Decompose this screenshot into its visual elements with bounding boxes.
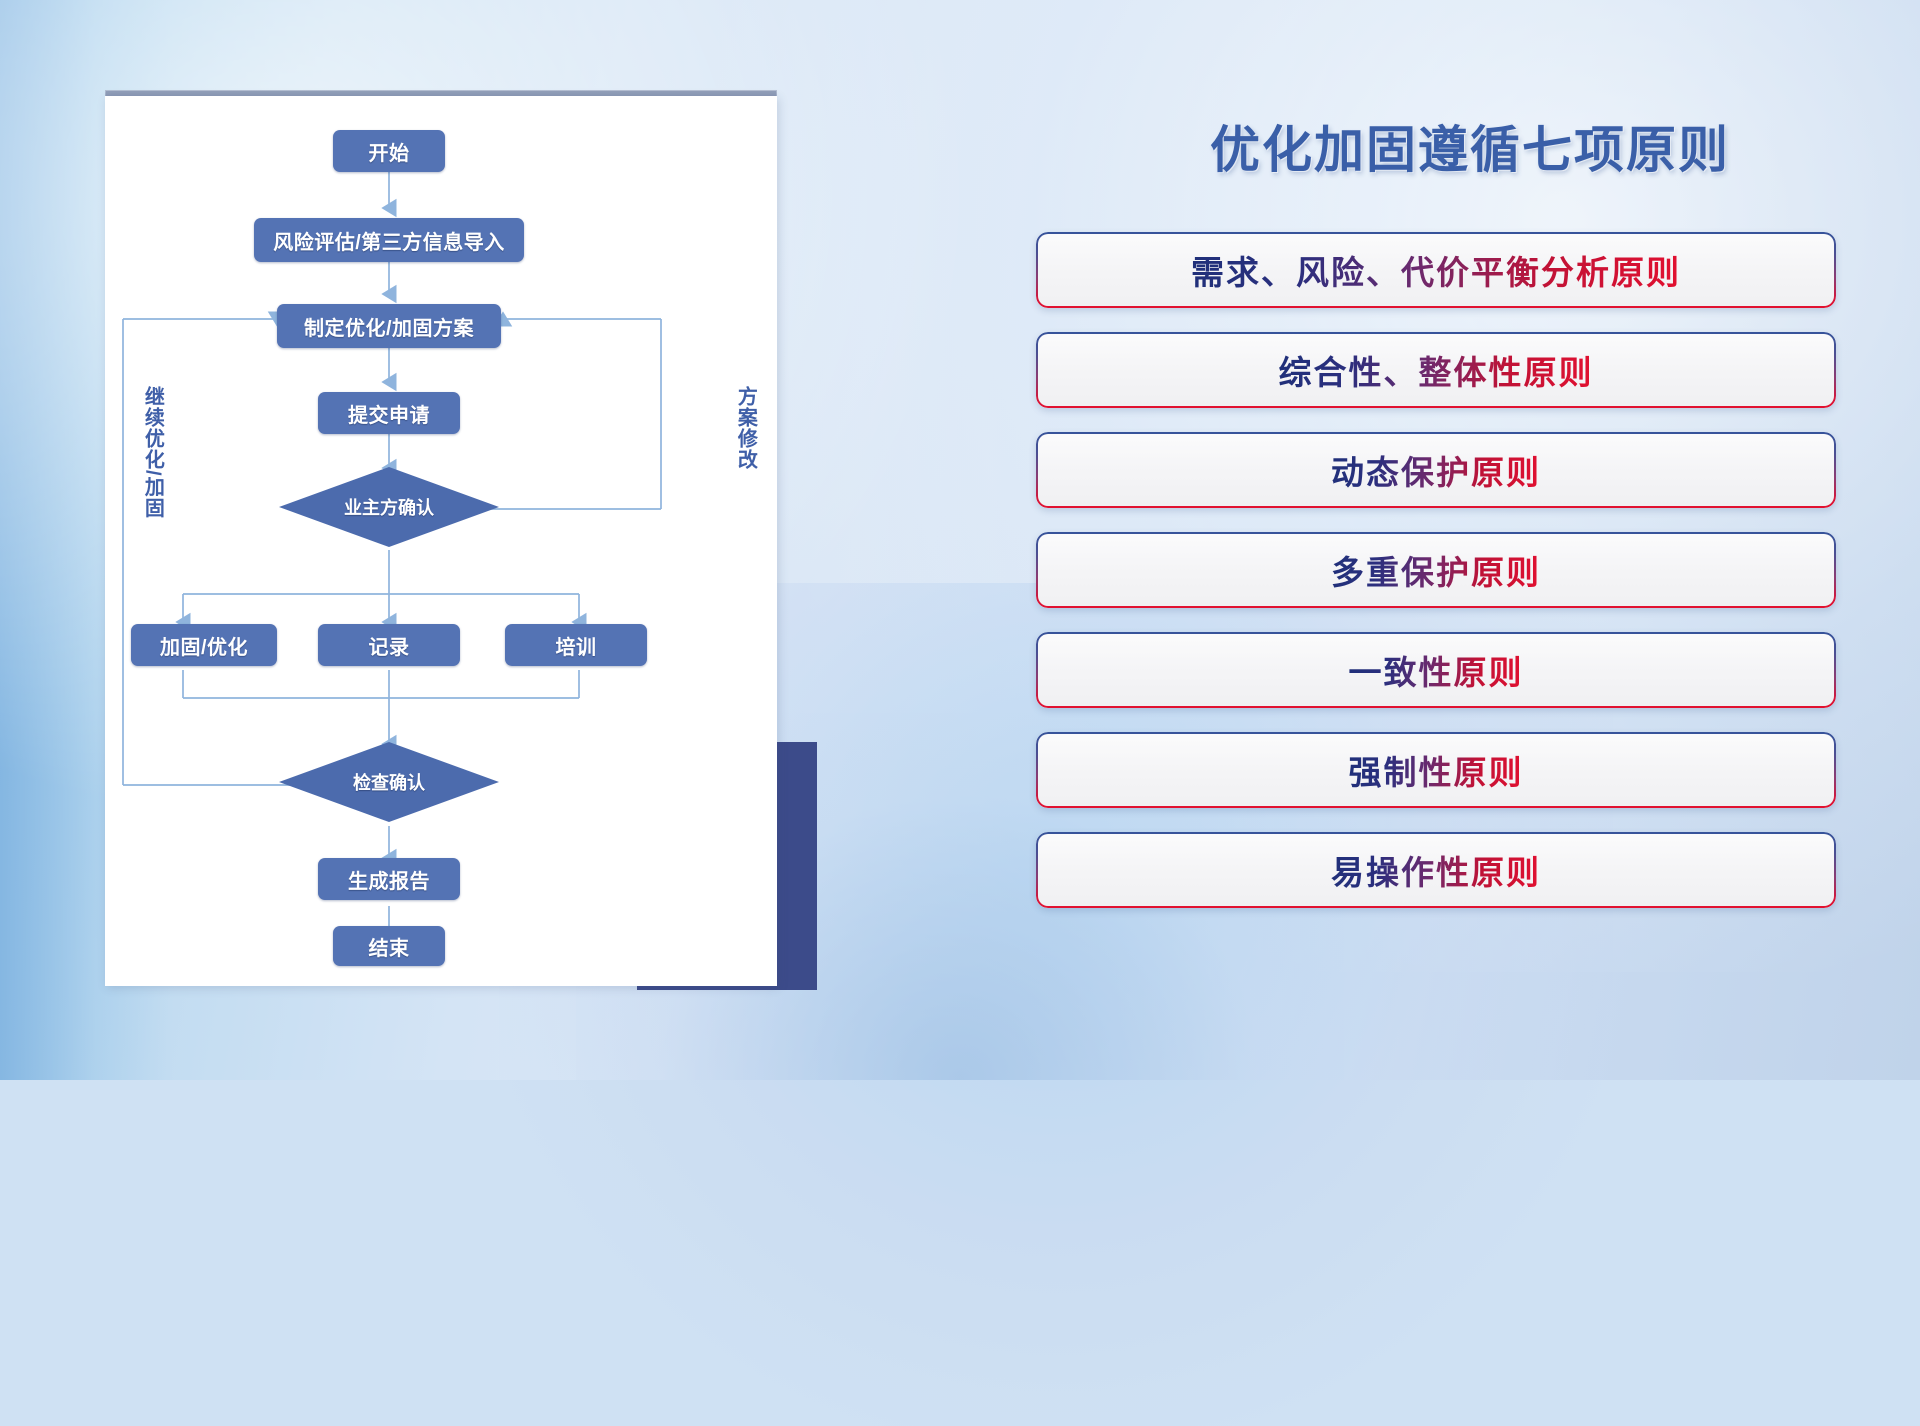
flow-node-record[interactable]: 记录	[318, 624, 460, 666]
principle-card-1[interactable]: 需求、风险、代价平衡分析原则	[1036, 232, 1836, 308]
principle-card-list: 需求、风险、代价平衡分析原则 综合性、整体性原则 动态保护原则 多重保护原则 一…	[1036, 232, 1836, 932]
flow-node-end[interactable]: 结束	[333, 926, 445, 966]
principle-card-6[interactable]: 强制性原则	[1036, 732, 1836, 808]
flow-node-risk-assessment[interactable]: 风险评估/第三方信息导入	[254, 218, 524, 262]
flow-node-generate-report[interactable]: 生成报告	[318, 858, 460, 900]
principle-card-4[interactable]: 多重保护原则	[1036, 532, 1836, 608]
principle-card-3[interactable]: 动态保护原则	[1036, 432, 1836, 508]
flow-edge-label-continue-optimize: 继续优化/加固	[142, 386, 162, 519]
page-title: 优化加固遵循七项原则	[1020, 110, 1920, 182]
principle-card-label: 综合性、整体性原则	[1279, 346, 1594, 394]
principle-card-5[interactable]: 一致性原则	[1036, 632, 1836, 708]
principle-card-label: 需求、风险、代价平衡分析原则	[1191, 246, 1681, 294]
principle-card-label: 一致性原则	[1349, 646, 1524, 694]
principle-card-label: 强制性原则	[1349, 746, 1524, 794]
flow-node-plan[interactable]: 制定优化/加固方案	[277, 304, 501, 348]
flow-node-start[interactable]: 开始	[333, 130, 445, 172]
principle-card-label: 多重保护原则	[1331, 546, 1541, 594]
principle-card-7[interactable]: 易操作性原则	[1036, 832, 1836, 908]
flow-node-submit-application[interactable]: 提交申请	[318, 392, 460, 434]
flow-edge-label-plan-revision: 方案修改	[735, 386, 755, 470]
flow-node-reinforce-optimize[interactable]: 加固/优化	[131, 624, 277, 666]
principle-card-label: 易操作性原则	[1331, 846, 1541, 894]
principle-card-2[interactable]: 综合性、整体性原则	[1036, 332, 1836, 408]
principles-panel: 优化加固遵循七项原则 需求、风险、代价平衡分析原则 综合性、整体性原则 动态保护…	[1020, 0, 1920, 1080]
flow-node-training[interactable]: 培训	[505, 624, 647, 666]
principle-card-label: 动态保护原则	[1331, 446, 1541, 494]
